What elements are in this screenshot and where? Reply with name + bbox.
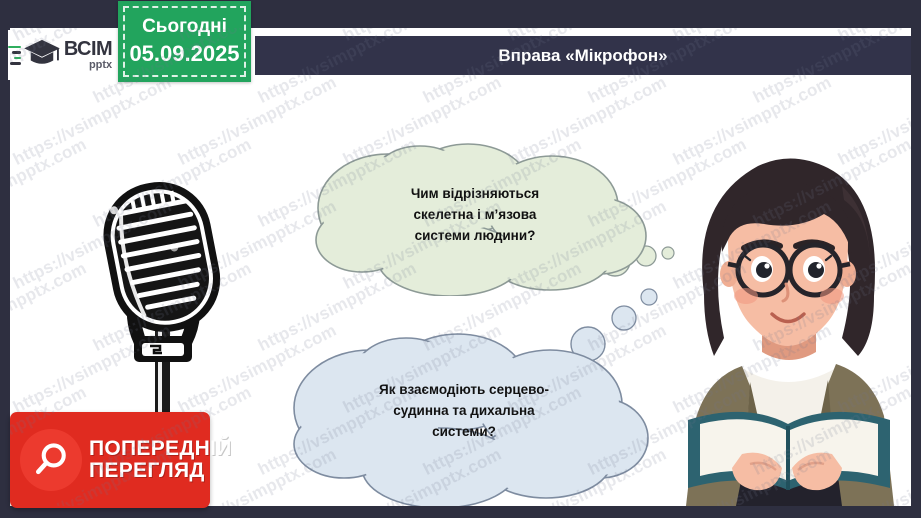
thought-bubble-blue: Як взаємодіють серцево- судинна та дихал…: [278, 324, 650, 506]
date-badge: Сьогодні 05.09.2025: [118, 1, 251, 82]
preview-button-line2: ПЕРЕГЛЯД: [89, 460, 232, 482]
date-label: Сьогодні: [142, 16, 227, 38]
slide-title-bar: Вправа «Мікрофон»: [255, 36, 911, 75]
magnifier-icon: [20, 429, 82, 491]
slide-root: Чим відрізняються скелетна і м’язова сис…: [0, 0, 921, 518]
graduation-cap-icon: [23, 38, 61, 73]
watermark-text: https://vsimpptx.com: [10, 73, 175, 170]
bubble-blue-text: Як взаємодіють серцево- судинна та дихал…: [278, 380, 650, 443]
preview-button[interactable]: ПОПЕРЕДНІЙ ПЕРЕГЛЯД: [10, 412, 210, 508]
speed-lines-icon: [8, 46, 21, 65]
date-value: 05.09.2025: [129, 41, 239, 67]
bubble-green-text: Чим відрізняються скелетна і м’язова сис…: [300, 184, 650, 247]
page-title: Вправа «Мікрофон»: [498, 46, 667, 66]
woman-with-book-icon: [646, 124, 911, 506]
logo-subtitle: pptx: [64, 60, 112, 70]
logo-name: ВСІМ: [64, 40, 112, 58]
thought-bubble-green: Чим відрізняються скелетна і м’язова сис…: [300, 136, 650, 296]
brand-logo[interactable]: ВСІМ pptx: [8, 30, 112, 80]
preview-button-line1: ПОПЕРЕДНІЙ: [89, 438, 232, 460]
